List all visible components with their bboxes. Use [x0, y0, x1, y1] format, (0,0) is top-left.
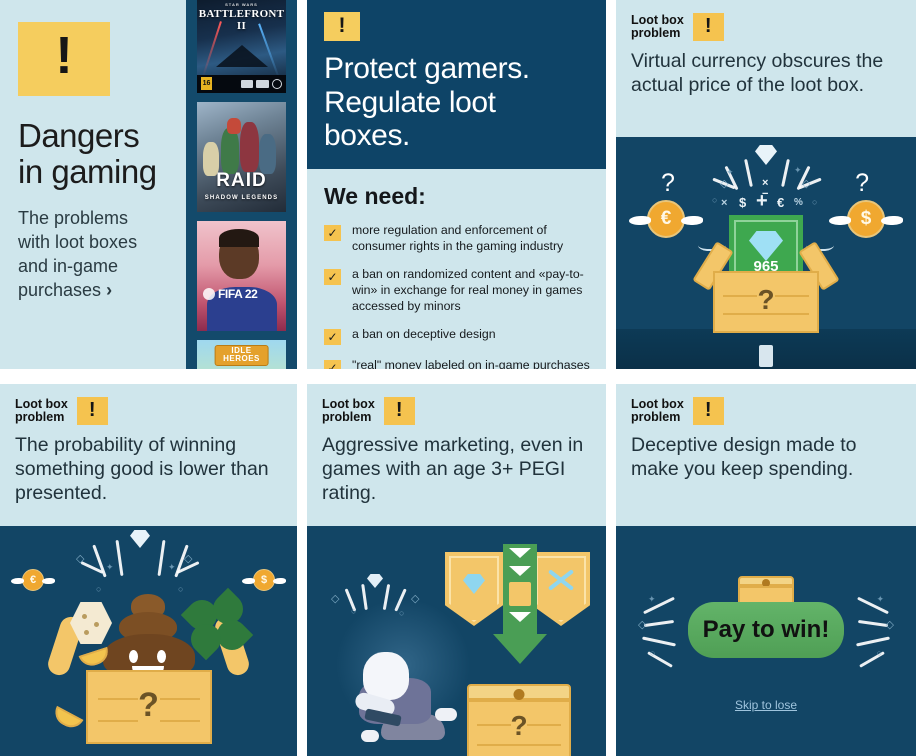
loot-box-problem-kicker: Loot box problem ! [307, 384, 606, 425]
panel1-text-column: ! Dangers in gaming The problems with lo… [0, 0, 186, 369]
diamond-icon [367, 574, 383, 588]
exclamation-icon: ! [77, 397, 108, 425]
game-cover-raid[interactable]: RAID SHADOW LEGENDS [197, 102, 286, 212]
exclamation-icon: ! [384, 397, 415, 425]
question-mark-icon: ? [661, 169, 675, 198]
lock-icon [514, 689, 525, 700]
chest-lid [467, 684, 571, 700]
wing-icon [881, 216, 903, 225]
panel4-illustration: ◇ ◇ ✦ ✦ ○ ○ € $ [0, 526, 297, 756]
demand-text: a ban on randomized content and «pay-to-… [352, 267, 590, 314]
box-body: ? [713, 271, 819, 333]
kicker-label: Loot box problem [322, 398, 375, 425]
gem-outline-icon: ◇ [720, 177, 728, 190]
check-icon: ✓ [324, 269, 341, 285]
math-symbol: × [721, 197, 727, 209]
wing-icon [42, 578, 55, 584]
panel-deceptive-design: Loot box problem ! Deceptive design made… [616, 384, 916, 756]
panel3-illustration: ◇ ◇ ○ ○ ✦ ✦ × − × $ + € % ? € ? [616, 137, 916, 369]
math-symbol: € [777, 195, 784, 210]
panel-virtual-currency: Loot box problem ! Virtual currency obsc… [616, 0, 916, 369]
subtitle-line-4: purchases [18, 280, 101, 300]
mini-chest-icon [509, 582, 531, 606]
gem-outline-icon: ◇ [184, 552, 192, 565]
title-line-1: Dangers [18, 117, 139, 154]
demand-item: ✓ a ban on deceptive design [324, 327, 590, 345]
game-cover-idle-heroes[interactable]: IDLE HEROES [197, 340, 286, 369]
pay-to-win-button[interactable]: Pay to win! [688, 602, 844, 658]
loot-box-problem-kicker: Loot box problem ! [616, 0, 916, 41]
math-symbol: $ [739, 195, 746, 210]
exclamation-icon: ! [693, 13, 724, 41]
check-icon: ✓ [324, 329, 341, 345]
gem-shield-badge [445, 552, 503, 626]
gamer-kid-figure [347, 644, 477, 754]
banana-icon [50, 706, 83, 732]
panel-dangers-in-gaming: ! Dangers in gaming The problems with lo… [0, 0, 297, 369]
demand-item: ✓ "real" money labeled on in-game purcha… [324, 358, 590, 369]
game-cover-battlefront[interactable]: STAR WARS BATTLEFRONT II 16 [197, 0, 286, 93]
panel-aggressive-marketing: Loot box problem ! Aggressive marketing,… [307, 384, 606, 756]
headline-line-1: Protect gamers. [324, 52, 530, 85]
chest-body: ? [467, 700, 571, 756]
cover-logo: FIFA 22 [203, 287, 257, 301]
question-mark-icon: ? [715, 284, 817, 316]
wing-icon [681, 216, 703, 225]
question-mark-icon: ? [88, 686, 210, 725]
kicker-label: Loot box problem [15, 398, 68, 425]
ea-logo-icon [272, 79, 282, 89]
math-symbol: + [756, 190, 768, 213]
loot-box-problem-kicker: Loot box problem ! [616, 384, 916, 425]
dollar-coin-icon: $ [253, 569, 275, 591]
panel-probability: Loot box problem ! The probability of wi… [0, 384, 297, 756]
panel2-demands: We need: ✓ more regulation and enforceme… [307, 169, 606, 369]
page-title: Dangers in gaming [18, 118, 172, 189]
skip-to-lose-link[interactable]: Skip to lose [616, 698, 916, 712]
subtitle-line-1: The problems [18, 208, 128, 228]
check-icon: ✓ [324, 360, 341, 369]
panel2-headline: Protect gamers. Regulate loot boxes. [324, 52, 589, 153]
panel3-title: Virtual currency obscures the actual pri… [616, 41, 916, 97]
diamond-icon [130, 530, 150, 548]
publisher-logos [241, 79, 282, 89]
gem-outline-icon: ◇ [76, 552, 84, 565]
cover-title: RAID [197, 170, 286, 192]
title-line-2: in gaming [18, 153, 157, 190]
demand-text: "real" money labeled on in-game purchase… [352, 358, 590, 369]
panel1-subtitle: The problems with loot boxes and in-game… [18, 207, 172, 302]
math-symbol: % [794, 197, 803, 208]
cover-kicker: STAR WARS [197, 2, 286, 7]
cover-subtitle: SHADOW LEGENDS [197, 195, 286, 201]
road-marker-icon [759, 345, 773, 367]
exclamation-icon: ! [693, 397, 724, 425]
kicker-label: Loot box problem [631, 398, 684, 425]
cover-title: FIFA 22 [218, 287, 257, 301]
panel4-title: The probability of winning something goo… [0, 425, 297, 506]
arrow-head-icon [493, 634, 547, 664]
headline-line-2: Regulate loot boxes. [324, 86, 496, 153]
demand-text: more regulation and enforcement of consu… [352, 223, 590, 254]
swords-shield-badge [532, 552, 590, 626]
euro-coin-icon: € [22, 569, 44, 591]
subtitle-line-3: and in-game [18, 256, 118, 276]
euro-coin-icon: € [647, 200, 685, 238]
panel5-illustration: ◇ ◇ ○ ○ [307, 526, 606, 756]
demand-item: ✓ a ban on randomized content and «pay-t… [324, 267, 590, 314]
game-cover-strip[interactable]: STAR WARS BATTLEFRONT II 16 RAID SHADOW … [186, 0, 297, 369]
check-icon: ✓ [324, 225, 341, 241]
wing-icon [629, 216, 651, 225]
gem-outline-icon: ◇ [331, 592, 339, 605]
open-loot-box: ? [86, 670, 212, 744]
player-hair [219, 229, 259, 247]
game-cover-fifa22[interactable]: FIFA 22 [197, 221, 286, 331]
wing-icon [273, 578, 286, 584]
exclamation-icon: ! [18, 22, 110, 96]
panel6-title: Deceptive design made to make you keep s… [616, 425, 916, 481]
wing-icon [11, 578, 24, 584]
panel-protect-gamers: ! Protect gamers. Regulate loot boxes. W… [307, 0, 606, 369]
exclamation-icon: ! [324, 12, 360, 41]
kicker-label: Loot box problem [631, 14, 684, 41]
treasure-chest: ? [467, 684, 571, 756]
wing-icon [829, 216, 851, 225]
exclamation-glyph: ! [55, 30, 72, 82]
open-loot-box: ? [713, 225, 819, 333]
gem-outline-icon: ◇ [802, 177, 810, 190]
panel5-title: Aggressive marketing, even in games with… [307, 425, 606, 506]
demand-text: a ban on deceptive design [352, 327, 496, 345]
pegi-rating-badge: 16 [201, 77, 212, 90]
box-body: ? [86, 670, 212, 744]
ea-logo-icon [203, 288, 215, 300]
planet-icon [216, 45, 268, 67]
demand-item: ✓ more regulation and enforcement of con… [324, 223, 590, 254]
dollar-coin-icon: $ [847, 200, 885, 238]
we-need-label: We need: [324, 183, 590, 210]
question-mark-icon: ? [469, 710, 569, 742]
lucasfilm-logo-icon [256, 80, 269, 88]
subtitle-line-2: with loot boxes [18, 232, 137, 252]
panel2-header: ! Protect gamers. Regulate loot boxes. [307, 0, 606, 169]
cover-title: IDLE HEROES [214, 345, 269, 366]
cover-title: BATTLEFRONT II [197, 8, 286, 32]
chest-lid [738, 576, 794, 586]
panel6-illustration: ◇ ✦ ○ ◇ ✦ ○ Pay to wi [616, 526, 916, 756]
gem-outline-icon: ◇ [886, 618, 894, 631]
pay-to-win-label: Pay to win! [703, 616, 830, 644]
dice-logo-icon [241, 80, 253, 88]
chevron-right-icon[interactable]: › [106, 280, 112, 300]
gem-outline-icon: ◇ [638, 618, 646, 631]
exclamation-glyph: ! [339, 15, 346, 36]
question-mark-icon: ? [855, 169, 869, 198]
loot-box-problem-kicker: Loot box problem ! [0, 384, 297, 425]
infographic-grid: ! Dangers in gaming The problems with lo… [0, 0, 916, 756]
wing-icon [242, 578, 255, 584]
diamond-icon [755, 145, 777, 165]
